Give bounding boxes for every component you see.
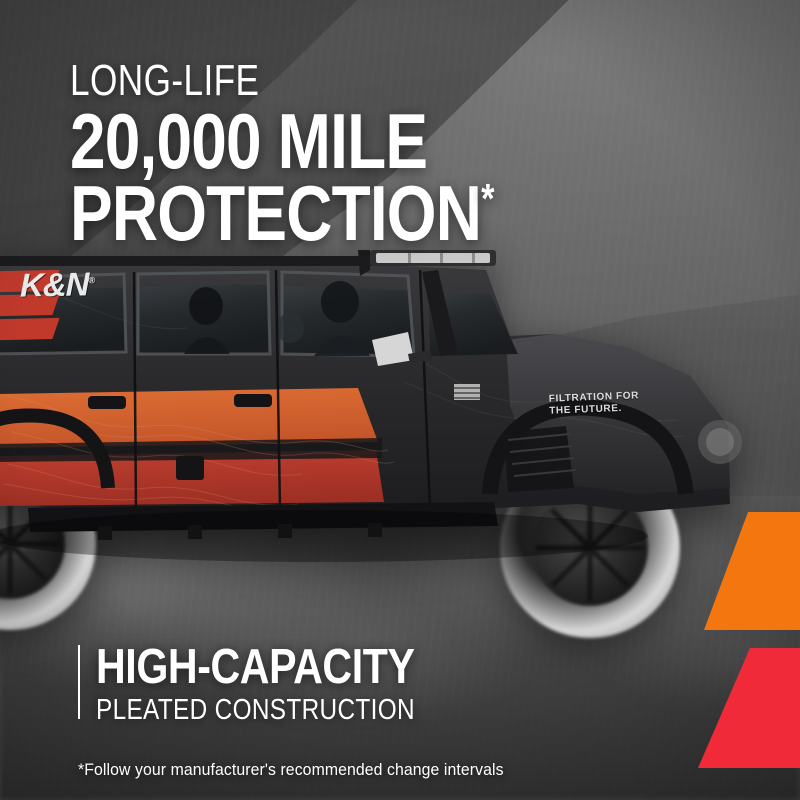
- headline-line-1: 20,000 MILE: [70, 107, 494, 175]
- kn-logo-wordmark: K&N: [20, 265, 89, 303]
- headline-asterisk: *: [481, 175, 494, 222]
- headline-block: LONG-LIFE 20,000 MILE PROTECTION*: [70, 58, 587, 247]
- feature-callout-block: HIGH-CAPACITY PLEATED CONSTRUCTION: [78, 645, 476, 725]
- front-grille: [504, 426, 576, 492]
- headline-line-2-text: PROTECTION: [70, 169, 481, 257]
- feature-divider-rule: [78, 645, 80, 719]
- headline-line-2: PROTECTION*: [70, 179, 494, 247]
- vehicle-illustration: [0, 236, 768, 656]
- kn-logo-text: K&N®: [20, 265, 94, 301]
- registered-mark-icon: ®: [89, 275, 95, 285]
- kn-logo-decal: K&N®: [0, 261, 110, 349]
- feature-text-group: HIGH-CAPACITY PLEATED CONSTRUCTION: [96, 645, 476, 725]
- feature-title: HIGH-CAPACITY: [96, 645, 415, 690]
- advertisement-canvas: K&N® FILTRATION FOR THE FUTURE. LONG-LIF…: [0, 0, 800, 800]
- disclaimer-text: *Follow your manufacturer's recommended …: [78, 760, 504, 780]
- feature-subtitle: PLEATED CONSTRUCTION: [96, 695, 415, 725]
- vehicle-fender-tagline: FILTRATION FOR THE FUTURE.: [549, 390, 640, 417]
- flag-decal: [454, 384, 480, 400]
